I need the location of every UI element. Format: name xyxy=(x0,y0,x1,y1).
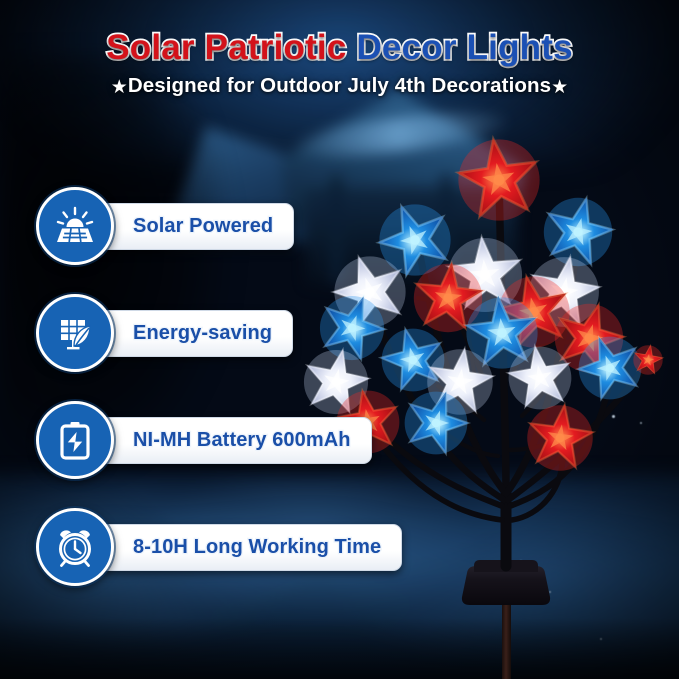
solar-panel-sun-icon xyxy=(36,187,114,265)
feature-label: 8-10H Long Working Time xyxy=(133,536,381,559)
battery-bolt-icon xyxy=(36,401,114,479)
page-title: Solar Patriotic Decor Lights xyxy=(0,0,679,68)
product-marketing-image: Solar Patriotic Decor Lights ★Designed f… xyxy=(0,0,679,679)
star-light-red xyxy=(456,137,542,223)
title-red-part: Solar Patriotic xyxy=(106,28,346,67)
feature-solar-powered[interactable]: Solar Powered xyxy=(36,190,402,262)
star-light-white xyxy=(507,345,573,411)
subtitle-text: Designed for Outdoor July 4th Decoration… xyxy=(128,74,551,97)
alarm-clock-icon xyxy=(36,508,114,586)
feature-label: Solar Powered xyxy=(133,215,273,238)
feature-battery[interactable]: NI-MH Battery 600mAh xyxy=(36,404,402,476)
star-light-red xyxy=(633,345,664,376)
star-icon-right: ★ xyxy=(551,76,568,99)
subtitle: ★Designed for Outdoor July 4th Decoratio… xyxy=(0,74,679,99)
feature-energy-saving[interactable]: Energy-saving xyxy=(36,297,402,369)
feature-pill: NI-MH Battery 600mAh xyxy=(98,417,372,464)
feature-list: Solar Powered xyxy=(36,190,402,618)
solar-panel-leaf-icon xyxy=(36,294,114,372)
feature-pill: 8-10H Long Working Time xyxy=(98,524,402,571)
header: Solar Patriotic Decor Lights ★Designed f… xyxy=(0,0,679,99)
feature-pill: Solar Powered xyxy=(98,203,294,250)
feature-working-time[interactable]: 8-10H Long Working Time xyxy=(36,511,402,583)
star-light-blue xyxy=(403,390,469,456)
title-blue-part: Decor Lights xyxy=(347,28,573,67)
feature-label: NI-MH Battery 600mAh xyxy=(133,429,351,452)
feature-label: Energy-saving xyxy=(133,322,272,345)
star-icon-left: ★ xyxy=(111,76,128,99)
star-light-red xyxy=(526,404,595,473)
feature-pill: Energy-saving xyxy=(98,310,293,357)
